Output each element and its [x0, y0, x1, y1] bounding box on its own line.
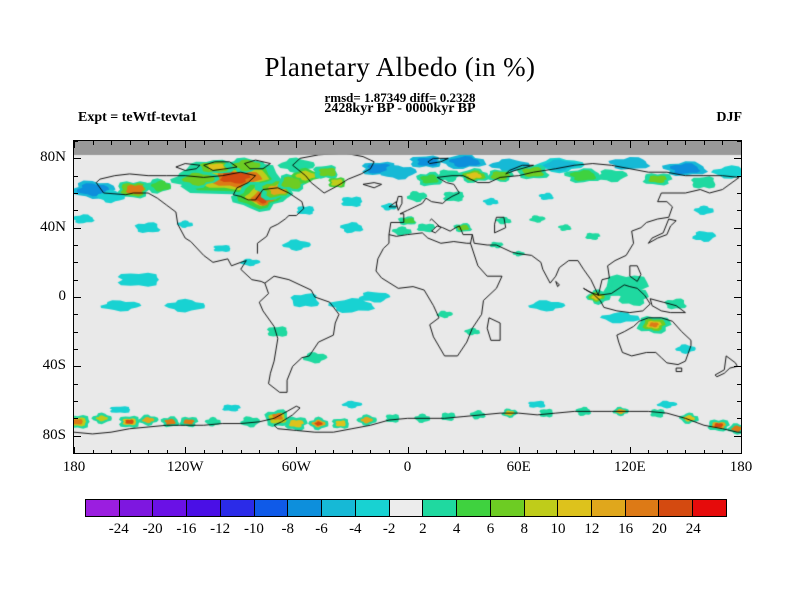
colorbar-swatch — [558, 500, 592, 516]
colorbar-tick-label: 6 — [487, 521, 495, 538]
colorbar-swatch — [356, 500, 390, 516]
axis-tick — [74, 228, 81, 229]
axis-tick — [352, 450, 353, 454]
axis-tick — [737, 418, 741, 419]
axis-tick — [74, 436, 81, 437]
x-axis-tick-label: 60E — [484, 459, 554, 476]
axis-tick — [333, 141, 334, 145]
axis-tick — [74, 141, 78, 142]
axis-tick — [463, 141, 464, 145]
y-axis-tick-label: 40S — [6, 357, 66, 374]
colorbar-tick-label: 10 — [551, 521, 566, 538]
colorbar — [85, 499, 727, 517]
colorbar-swatch — [659, 500, 693, 516]
axis-tick — [648, 141, 649, 145]
colorbar-swatch — [288, 500, 322, 516]
axis-tick — [667, 450, 668, 454]
colorbar-tick-label: 12 — [584, 521, 599, 538]
axis-tick — [737, 280, 741, 281]
axis-tick — [148, 450, 149, 454]
axis-tick — [463, 450, 464, 454]
y-axis-tick-label: 80N — [6, 149, 66, 166]
axis-tick — [111, 450, 112, 454]
y-axis-tick-label: 0 — [6, 288, 66, 305]
axis-tick — [737, 176, 741, 177]
axis-tick — [74, 453, 78, 454]
axis-tick — [74, 366, 81, 367]
axis-tick — [185, 447, 186, 454]
axis-tick — [741, 447, 742, 454]
season-label: DJF — [716, 110, 742, 126]
colorbar-tick-labels: -24-20-16-12-10-8-6-4-224681012162024 — [85, 521, 727, 543]
axis-tick — [537, 450, 538, 454]
axis-tick — [630, 141, 631, 148]
axis-tick — [352, 141, 353, 145]
colorbar-swatch — [322, 500, 356, 516]
colorbar-tick-label: -8 — [281, 521, 294, 538]
axis-tick — [74, 384, 78, 385]
colorbar-tick-label: 24 — [686, 521, 701, 538]
axis-tick — [648, 450, 649, 454]
axis-tick — [111, 141, 112, 145]
experiment-label: Expt = teWtf-tevta1 — [78, 110, 197, 126]
axis-tick — [278, 450, 279, 454]
axis-tick — [574, 141, 575, 145]
axis-tick — [500, 450, 501, 454]
axis-tick — [737, 384, 741, 385]
axis-tick — [167, 141, 168, 145]
axis-tick — [315, 141, 316, 145]
axis-tick — [259, 141, 260, 145]
axis-tick — [737, 314, 741, 315]
axis-tick — [611, 141, 612, 145]
axis-tick — [408, 447, 409, 454]
axis-tick — [737, 141, 741, 142]
axis-tick — [74, 141, 75, 148]
axis-tick — [74, 245, 78, 246]
colorbar-tick-label: 8 — [521, 521, 529, 538]
axis-tick — [296, 447, 297, 454]
axis-tick — [737, 193, 741, 194]
axis-tick — [426, 450, 427, 454]
axis-tick — [389, 450, 390, 454]
axis-tick — [482, 450, 483, 454]
colorbar-tick-label: 20 — [652, 521, 667, 538]
axis-tick — [74, 297, 81, 298]
axis-tick — [74, 210, 78, 211]
colorbar-tick-label: -2 — [383, 521, 396, 538]
colorbar-swatch — [86, 500, 120, 516]
axis-tick — [519, 141, 520, 148]
colorbar-swatch — [120, 500, 154, 516]
axis-tick — [630, 447, 631, 454]
axis-tick — [704, 450, 705, 454]
axis-tick — [722, 450, 723, 454]
axis-tick — [704, 141, 705, 145]
axis-tick — [734, 366, 741, 367]
colorbar-tick-label: -10 — [244, 521, 264, 538]
colorbar-swatch — [255, 500, 289, 516]
axis-tick — [408, 141, 409, 148]
axis-tick — [737, 245, 741, 246]
axis-tick — [130, 141, 131, 145]
axis-tick — [685, 450, 686, 454]
axis-tick — [737, 262, 741, 263]
axis-tick — [222, 450, 223, 454]
y-axis-tick-label: 80S — [6, 427, 66, 444]
axis-tick — [333, 450, 334, 454]
axis-tick — [278, 141, 279, 145]
axis-tick — [556, 450, 557, 454]
colorbar-tick-label: -20 — [143, 521, 163, 538]
colorbar-swatch — [423, 500, 457, 516]
axis-tick — [667, 141, 668, 145]
axis-tick — [611, 450, 612, 454]
colorbar-swatch — [491, 500, 525, 516]
x-axis-tick-label: 60W — [261, 459, 331, 476]
colorbar-tick-label: -6 — [315, 521, 328, 538]
axis-tick — [537, 141, 538, 145]
y-axis-tick-label: 40N — [6, 219, 66, 236]
axis-tick — [74, 158, 81, 159]
axis-tick — [556, 141, 557, 145]
axis-tick — [737, 401, 741, 402]
axis-tick — [222, 141, 223, 145]
axis-tick — [259, 450, 260, 454]
colorbar-swatch — [221, 500, 255, 516]
axis-tick — [737, 210, 741, 211]
colorbar-tick-label: -12 — [210, 521, 230, 538]
axis-tick — [685, 141, 686, 145]
page-title: Planetary Albedo (in %) — [0, 52, 800, 83]
axis-tick — [74, 349, 78, 350]
axis-tick — [74, 332, 78, 333]
colorbar-swatch — [525, 500, 559, 516]
axis-tick — [593, 450, 594, 454]
axis-tick — [734, 297, 741, 298]
axis-tick — [737, 453, 741, 454]
colorbar-tick-label: 4 — [453, 521, 461, 538]
axis-tick — [296, 141, 297, 148]
colorbar-tick-label: 2 — [419, 521, 427, 538]
axis-tick — [204, 450, 205, 454]
axis-tick — [722, 141, 723, 145]
x-axis-tick-label: 180 — [706, 459, 776, 476]
axis-tick — [737, 349, 741, 350]
axis-tick — [74, 314, 78, 315]
axis-tick — [482, 141, 483, 145]
axis-tick — [445, 141, 446, 145]
axis-tick — [93, 141, 94, 145]
x-axis-tick-label: 0 — [373, 459, 443, 476]
axis-tick — [167, 450, 168, 454]
axis-tick — [74, 418, 78, 419]
colorbar-tick-label: 16 — [618, 521, 633, 538]
axis-tick — [741, 141, 742, 148]
axis-tick — [74, 193, 78, 194]
axis-tick — [734, 436, 741, 437]
colorbar-tick-label: -24 — [109, 521, 129, 538]
axis-tick — [370, 141, 371, 145]
colorbar-swatch — [592, 500, 626, 516]
axis-tick — [734, 228, 741, 229]
axis-tick — [148, 141, 149, 145]
axis-tick — [737, 332, 741, 333]
colorbar-swatch — [153, 500, 187, 516]
colorbar-tick-label: -16 — [176, 521, 196, 538]
axis-tick — [93, 450, 94, 454]
axis-tick — [445, 450, 446, 454]
axis-tick — [574, 450, 575, 454]
x-axis-tick-label: 120W — [150, 459, 220, 476]
axis-tick — [74, 401, 78, 402]
colorbar-swatch — [693, 500, 726, 516]
x-axis-tick-label: 120E — [595, 459, 665, 476]
axis-tick — [130, 450, 131, 454]
colorbar-swatch — [187, 500, 221, 516]
colorbar-tick-label: -4 — [349, 521, 362, 538]
axis-tick — [426, 141, 427, 145]
colorbar-swatch — [390, 500, 424, 516]
colorbar-swatch — [457, 500, 491, 516]
axis-tick — [241, 450, 242, 454]
axis-tick — [500, 141, 501, 145]
map-canvas — [74, 141, 741, 453]
x-axis-tick-label: 180 — [39, 459, 109, 476]
axis-tick — [74, 280, 78, 281]
axis-tick — [593, 141, 594, 145]
axis-tick — [74, 176, 78, 177]
axis-tick — [315, 450, 316, 454]
axis-tick — [734, 158, 741, 159]
colorbar-swatch — [626, 500, 660, 516]
axis-tick — [185, 141, 186, 148]
axis-tick — [389, 141, 390, 145]
axis-tick — [519, 447, 520, 454]
axis-tick — [370, 450, 371, 454]
axis-tick — [241, 141, 242, 145]
axis-tick — [204, 141, 205, 145]
axis-tick — [74, 262, 78, 263]
map-plot-area — [73, 140, 742, 454]
